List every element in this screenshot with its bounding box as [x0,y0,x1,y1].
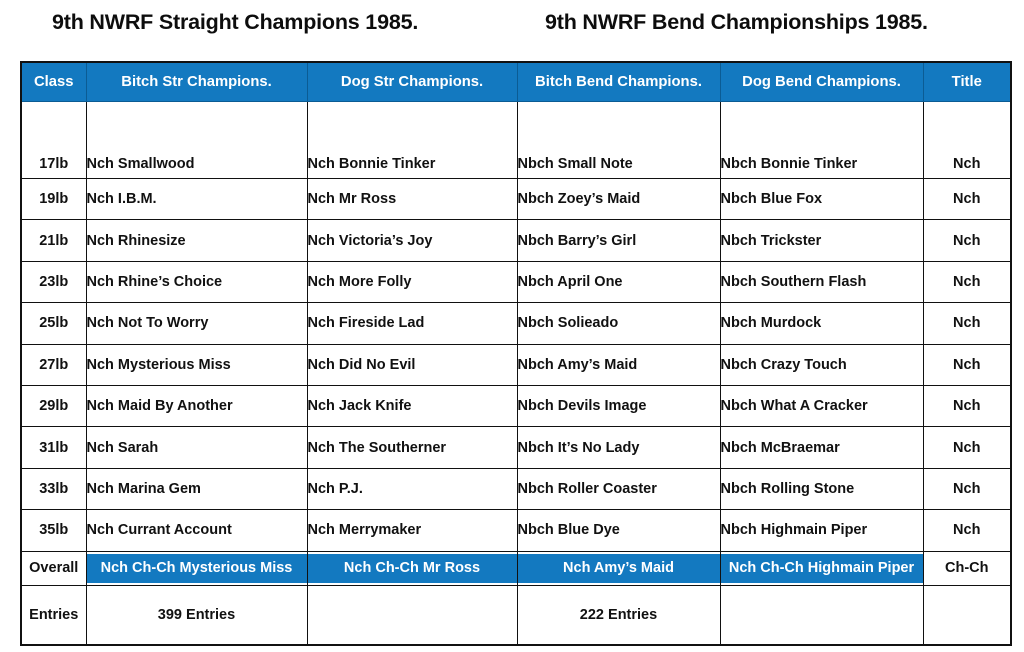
cell-dog-str: Nch Merrymaker [307,510,517,551]
table-row: 23lb Nch Rhine’s Choice Nch More Folly N… [21,261,1011,302]
cell-dog-str: Nch The Southerner [307,427,517,468]
overall-dog-bend-badge: Nch Ch-Ch Highmain Piper [721,554,923,583]
cell-class: 33lb [21,468,86,509]
cell-dog-bend: Nbch Murdock [720,303,923,344]
column-header-bitch-bend-champions[interactable]: Bitch Bend Champions. [517,62,720,102]
cell-overall-dog-str: Nch Ch-Ch Mr Ross [307,551,517,585]
cell-bitch-bend: Nbch Devils Image [517,385,720,426]
cell-title: Nch [923,220,1011,261]
cell-title: Nch [923,179,1011,220]
table-row: 31lb Nch Sarah Nch The Southerner Nbch I… [21,427,1011,468]
cell-dog-bend: Nbch What A Cracker [720,385,923,426]
cell-bitch-bend: Nbch Roller Coaster [517,468,720,509]
entries-row: Entries 399 Entries 222 Entries [21,585,1011,645]
column-header-title[interactable]: Title [923,62,1011,102]
cell-bitch-str: Nch Marina Gem [86,468,307,509]
champions-table: Class Bitch Str Champions. Dog Str Champ… [20,61,1012,646]
cell-title: Nch [923,261,1011,302]
table-row: 25lb Nch Not To Worry Nch Fireside Lad N… [21,303,1011,344]
cell-bitch-str: Nch Sarah [86,427,307,468]
cell-bitch-str: Nch Rhinesize [86,220,307,261]
cell-bitch-str: Nch Currant Account [86,510,307,551]
champions-table-wrapper: Class Bitch Str Champions. Dog Str Champ… [20,61,1010,646]
cell-bitch-str: Nch Mysterious Miss [86,344,307,385]
overall-bitch-bend-badge: Nch Amy’s Maid [518,554,720,583]
cell-bitch-str: Nch Not To Worry [86,303,307,344]
cell-dog-bend: Nbch Southern Flash [720,261,923,302]
cell-dog-str: Nch Victoria’s Joy [307,220,517,261]
cell-dog-bend: Nbch Bonnie Tinker [720,102,923,179]
cell-title: Nch [923,344,1011,385]
bend-championships-title: 9th NWRF Bend Championships 1985. [545,10,928,35]
titles-bar: 9th NWRF Straight Champions 1985. 9th NW… [0,0,1024,52]
cell-class: 35lb [21,510,86,551]
table-row: 21lb Nch Rhinesize Nch Victoria’s Joy Nb… [21,220,1011,261]
cell-bitch-str: Nch Maid By Another [86,385,307,426]
cell-dog-bend: Nbch Blue Fox [720,179,923,220]
column-header-class[interactable]: Class [21,62,86,102]
cell-bitch-str: Nch Smallwood [86,102,307,179]
cell-title: Nch [923,303,1011,344]
cell-class: 17lb [21,102,86,179]
cell-dog-bend: Nbch Highmain Piper [720,510,923,551]
cell-title: Nch [923,385,1011,426]
cell-title: Nch [923,102,1011,179]
cell-dog-bend: Nbch McBraemar [720,427,923,468]
cell-bitch-bend: Nbch Blue Dye [517,510,720,551]
cell-entries-title [923,585,1011,645]
column-header-bitch-str-champions[interactable]: Bitch Str Champions. [86,62,307,102]
column-header-dog-str-champions[interactable]: Dog Str Champions. [307,62,517,102]
cell-overall-bitch-str: Nch Ch-Ch Mysterious Miss [86,551,307,585]
cell-dog-str: Nch Bonnie Tinker [307,102,517,179]
cell-dog-str: Nch Jack Knife [307,385,517,426]
cell-title: Nch [923,510,1011,551]
cell-overall-bitch-bend: Nch Amy’s Maid [517,551,720,585]
cell-dog-str: Nch Did No Evil [307,344,517,385]
cell-dog-bend: Nbch Crazy Touch [720,344,923,385]
cell-bitch-bend: Nbch It’s No Lady [517,427,720,468]
cell-class: 31lb [21,427,86,468]
straight-champions-title: 9th NWRF Straight Champions 1985. [52,10,418,35]
cell-bitch-bend: Nbch April One [517,261,720,302]
cell-class: 23lb [21,261,86,302]
cell-overall-label: Overall [21,551,86,585]
cell-dog-bend: Nbch Rolling Stone [720,468,923,509]
cell-entries-dog-bend [720,585,923,645]
cell-dog-str: Nch Mr Ross [307,179,517,220]
cell-bitch-str: Nch Rhine’s Choice [86,261,307,302]
cell-class: 27lb [21,344,86,385]
cell-entries-dog-str [307,585,517,645]
cell-dog-bend: Nbch Trickster [720,220,923,261]
cell-bitch-bend: Nbch Amy’s Maid [517,344,720,385]
cell-title: Nch [923,468,1011,509]
cell-entries-bitch-str: 399 Entries [86,585,307,645]
cell-entries-bitch-bend: 222 Entries [517,585,720,645]
cell-class: 19lb [21,179,86,220]
table-row: 35lb Nch Currant Account Nch Merrymaker … [21,510,1011,551]
cell-class: 25lb [21,303,86,344]
column-header-dog-bend-champions[interactable]: Dog Bend Champions. [720,62,923,102]
table-header-row: Class Bitch Str Champions. Dog Str Champ… [21,62,1011,102]
cell-bitch-str: Nch I.B.M. [86,179,307,220]
cell-class: 21lb [21,220,86,261]
table-row: 17lb Nch Smallwood Nch Bonnie Tinker Nbc… [21,102,1011,179]
cell-overall-title: Ch-Ch [923,551,1011,585]
cell-dog-str: Nch P.J. [307,468,517,509]
cell-bitch-bend: Nbch Small Note [517,102,720,179]
table-row: 27lb Nch Mysterious Miss Nch Did No Evil… [21,344,1011,385]
overall-row: Overall Nch Ch-Ch Mysterious Miss Nch Ch… [21,551,1011,585]
overall-bitch-str-badge: Nch Ch-Ch Mysterious Miss [87,554,307,583]
cell-title: Nch [923,427,1011,468]
cell-dog-str: Nch Fireside Lad [307,303,517,344]
cell-bitch-bend: Nbch Zoey’s Maid [517,179,720,220]
table-row: 19lb Nch I.B.M. Nch Mr Ross Nbch Zoey’s … [21,179,1011,220]
cell-dog-str: Nch More Folly [307,261,517,302]
table-row: 33lb Nch Marina Gem Nch P.J. Nbch Roller… [21,468,1011,509]
cell-class: 29lb [21,385,86,426]
cell-entries-label: Entries [21,585,86,645]
cell-bitch-bend: Nbch Solieado [517,303,720,344]
cell-bitch-bend: Nbch Barry’s Girl [517,220,720,261]
cell-overall-dog-bend: Nch Ch-Ch Highmain Piper [720,551,923,585]
overall-dog-str-badge: Nch Ch-Ch Mr Ross [308,554,517,583]
table-row: 29lb Nch Maid By Another Nch Jack Knife … [21,385,1011,426]
